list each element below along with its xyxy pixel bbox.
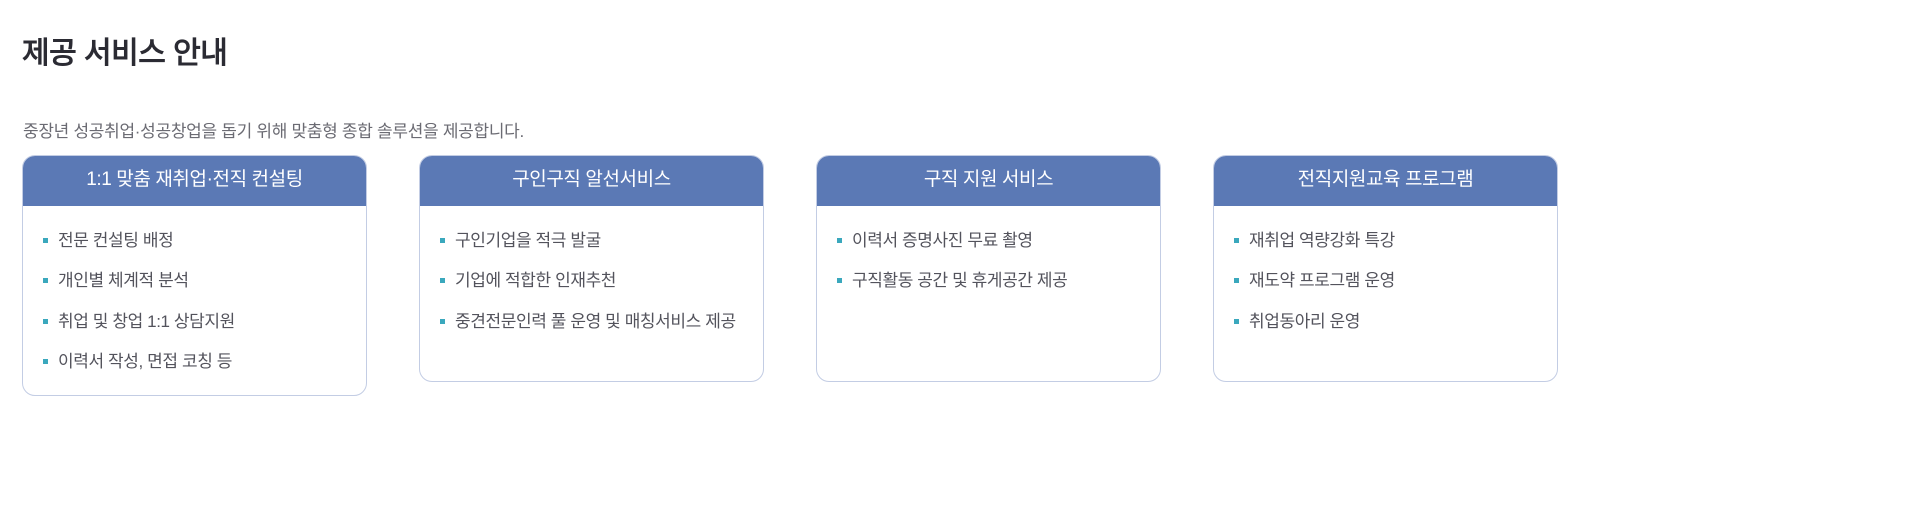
bullet-square-icon — [43, 278, 48, 283]
list-item: 이력서 작성, 면접 코칭 등 — [43, 349, 348, 375]
list-item-label: 구직활동 공간 및 휴게공간 제공 — [852, 268, 1142, 294]
list-item: 중견전문인력 풀 운영 및 매칭서비스 제공 — [440, 309, 745, 335]
list-item: 취업동아리 운영 — [1234, 309, 1539, 335]
service-card-body: 구인기업을 적극 발굴 기업에 적합한 인재추천 중견전문인력 풀 운영 및 매… — [420, 206, 763, 381]
list-item: 개인별 체계적 분석 — [43, 268, 348, 294]
list-item: 재취업 역량강화 특강 — [1234, 228, 1539, 254]
bullet-square-icon — [837, 238, 842, 243]
list-item: 구직활동 공간 및 휴게공간 제공 — [837, 268, 1142, 294]
service-feature-list: 전문 컨설팅 배정 개인별 체계적 분석 취업 및 창업 1:1 상담지원 이력… — [43, 228, 348, 375]
list-item-label: 취업동아리 운영 — [1249, 309, 1539, 335]
list-item: 전문 컨설팅 배정 — [43, 228, 348, 254]
service-card-body: 재취업 역량강화 특강 재도약 프로그램 운영 취업동아리 운영 — [1214, 206, 1557, 381]
bullet-square-icon — [43, 359, 48, 364]
service-card-job-matching: 구인구직 알선서비스 구인기업을 적극 발굴 기업에 적합한 인재추천 중견전문… — [419, 155, 764, 382]
service-card-title: 1:1 맞춤 재취업·전직 컨설팅 — [23, 156, 366, 206]
bullet-square-icon — [440, 238, 445, 243]
service-card-title: 전직지원교육 프로그램 — [1214, 156, 1557, 206]
bullet-square-icon — [43, 319, 48, 324]
list-item: 취업 및 창업 1:1 상담지원 — [43, 309, 348, 335]
service-card-jobseeker-support: 구직 지원 서비스 이력서 증명사진 무료 촬영 구직활동 공간 및 휴게공간 … — [816, 155, 1161, 382]
list-item-label: 취업 및 창업 1:1 상담지원 — [58, 309, 348, 335]
list-item-label: 이력서 작성, 면접 코칭 등 — [58, 349, 348, 375]
service-card-title: 구직 지원 서비스 — [817, 156, 1160, 206]
service-card-title: 구인구직 알선서비스 — [420, 156, 763, 206]
service-feature-list: 재취업 역량강화 특강 재도약 프로그램 운영 취업동아리 운영 — [1234, 228, 1539, 335]
list-item-label: 개인별 체계적 분석 — [58, 268, 348, 294]
bullet-square-icon — [440, 278, 445, 283]
list-item-label: 이력서 증명사진 무료 촬영 — [852, 228, 1142, 254]
service-card-body: 이력서 증명사진 무료 촬영 구직활동 공간 및 휴게공간 제공 — [817, 206, 1160, 381]
list-item: 재도약 프로그램 운영 — [1234, 268, 1539, 294]
service-card-body: 전문 컨설팅 배정 개인별 체계적 분석 취업 및 창업 1:1 상담지원 이력… — [23, 206, 366, 395]
service-feature-list: 이력서 증명사진 무료 촬영 구직활동 공간 및 휴게공간 제공 — [837, 228, 1142, 294]
bullet-square-icon — [440, 319, 445, 324]
bullet-square-icon — [837, 278, 842, 283]
list-item-label: 재취업 역량강화 특강 — [1249, 228, 1539, 254]
service-card-consulting: 1:1 맞춤 재취업·전직 컨설팅 전문 컨설팅 배정 개인별 체계적 분석 취… — [22, 155, 367, 396]
list-item-label: 재도약 프로그램 운영 — [1249, 268, 1539, 294]
bullet-square-icon — [1234, 319, 1239, 324]
page-title: 제공 서비스 안내 — [22, 36, 227, 72]
service-card-outplacement-education: 전직지원교육 프로그램 재취업 역량강화 특강 재도약 프로그램 운영 취업동아… — [1213, 155, 1558, 382]
bullet-square-icon — [43, 238, 48, 243]
list-item-label: 전문 컨설팅 배정 — [58, 228, 348, 254]
list-item-label: 중견전문인력 풀 운영 및 매칭서비스 제공 — [455, 309, 745, 335]
service-feature-list: 구인기업을 적극 발굴 기업에 적합한 인재추천 중견전문인력 풀 운영 및 매… — [440, 228, 745, 335]
page-subtitle: 중장년 성공취업·성공창업을 돕기 위해 맞춤형 종합 솔루션을 제공합니다. — [23, 117, 524, 142]
bullet-square-icon — [1234, 238, 1239, 243]
service-cards-row: 1:1 맞춤 재취업·전직 컨설팅 전문 컨설팅 배정 개인별 체계적 분석 취… — [22, 155, 1884, 396]
list-item: 이력서 증명사진 무료 촬영 — [837, 228, 1142, 254]
service-info-page: 제공 서비스 안내 중장년 성공취업·성공창업을 돕기 위해 맞춤형 종합 솔루… — [0, 0, 1906, 521]
list-item-label: 기업에 적합한 인재추천 — [455, 268, 745, 294]
bullet-square-icon — [1234, 278, 1239, 283]
list-item: 구인기업을 적극 발굴 — [440, 228, 745, 254]
list-item-label: 구인기업을 적극 발굴 — [455, 228, 745, 254]
list-item: 기업에 적합한 인재추천 — [440, 268, 745, 294]
